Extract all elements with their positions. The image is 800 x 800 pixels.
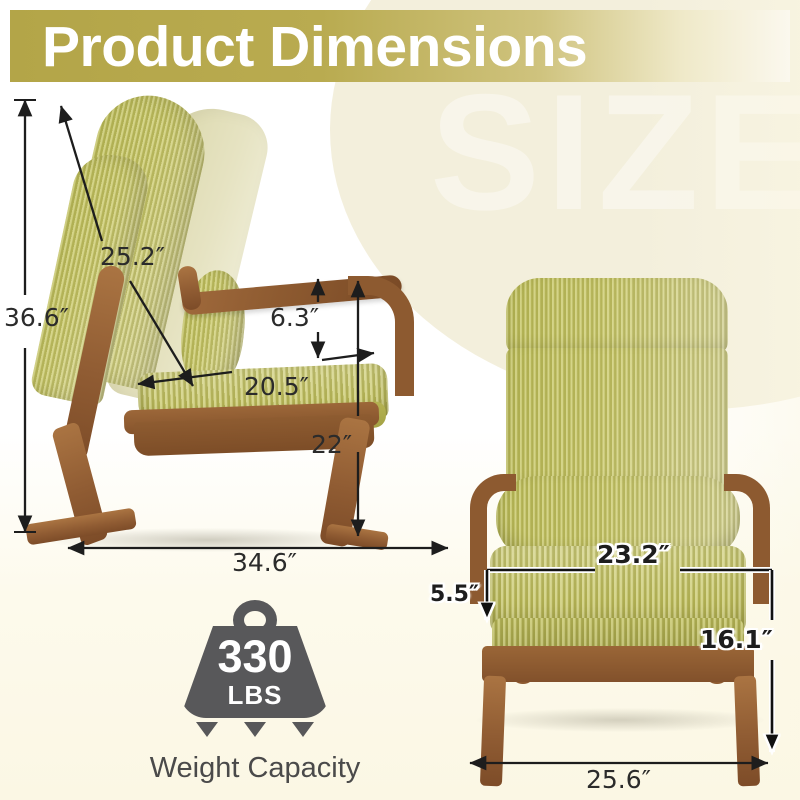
weight-icon: 330 LBS [170,600,340,718]
dim-label-seat-depth: 20.5″ [244,372,309,401]
dim-label-arm-clearance: 6.3″ [270,303,319,332]
dim-label-seat-height: 16.1″ [700,625,773,654]
dim-label-cushion-thickness: 5.5″ [430,582,479,607]
weight-capacity-unit: LBS [170,682,340,708]
triangle-down-icon-3 [292,722,314,737]
triangle-down-icon-1 [196,722,218,737]
weight-down-arrows [140,722,370,737]
dim-label-back-height-from-floor: 22″ [311,430,352,459]
weight-capacity-caption: Weight Capacity [140,752,370,785]
infographic-canvas: SIZE Product Dimensions [0,0,800,800]
dim-label-overall-depth: 34.6″ [232,548,297,577]
triangle-down-icon-2 [244,722,266,737]
dimension-arrow-layer [0,0,800,800]
dim-label-backrest-height: 25.2″ [100,242,165,271]
dim-label-seat-width: 23.2″ [597,540,670,569]
weight-capacity-value: 330 [170,634,340,679]
dim-label-overall-width: 25.6″ [586,765,651,794]
weight-capacity-block: 330 LBS Weight Capacity [140,600,370,790]
dim-label-overall-height: 36.6″ [4,303,69,332]
